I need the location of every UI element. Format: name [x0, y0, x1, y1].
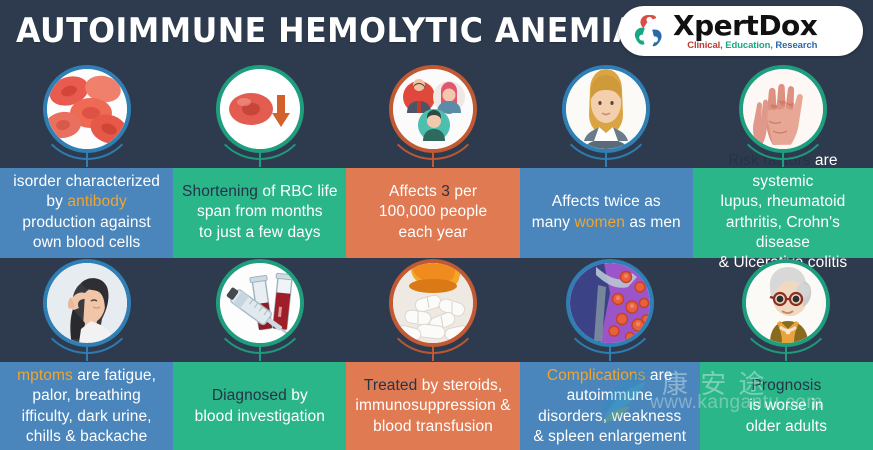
fact-text-diagnosis: Diagnosed byblood investigation: [195, 386, 325, 427]
text-segment: Treated: [364, 377, 418, 394]
text-segment: Shortening: [182, 183, 258, 200]
text-segment: span from months: [197, 203, 323, 220]
fact-panel-complications: Complications areautoimmunedisorders, we…: [520, 362, 700, 450]
medallion-symptoms: [43, 259, 131, 347]
text-segment: production against: [22, 214, 150, 231]
medallion-complications: [566, 259, 654, 347]
fact-text-treatment: Treated by steroids,immunosuppression &b…: [355, 376, 510, 437]
text-segment: are: [646, 367, 673, 384]
elderly-woman-icon: [746, 263, 826, 343]
medallion-sex-ratio: [562, 65, 650, 153]
rbc-down-arrow-icon: [220, 69, 300, 149]
fact-text-symptoms: mptoms are fatigue,palor, breathingiffic…: [17, 366, 156, 448]
woman-avatar-icon: [566, 69, 646, 149]
text-segment: 100,000 people: [379, 203, 487, 220]
fact-panel-symptoms: mptoms are fatigue,palor, breathingiffic…: [0, 362, 173, 450]
text-segment: blood investigation: [195, 408, 325, 425]
text-segment: immunosuppression &: [355, 397, 510, 414]
fact-cell-treatment: Treated by steroids,immunosuppression &b…: [346, 256, 519, 450]
medallion-ring: [43, 65, 131, 153]
text-segment: Affects: [389, 183, 441, 200]
medallion-stem: [86, 153, 88, 167]
text-segment: disorders, weakness: [538, 408, 681, 425]
text-segment: women: [574, 214, 624, 231]
logo-name: XpertDox: [673, 12, 817, 40]
medallion-stem: [259, 347, 261, 361]
text-segment: blood transfusion: [373, 418, 493, 435]
arthritic-hands-icon: [743, 69, 823, 149]
fact-cell-sex-ratio: Affects twice asmany women as men: [520, 62, 693, 256]
syringe-blood-tubes-icon: [220, 263, 300, 343]
fact-cell-incidence: Affects 3 per100,000 peopleeach year: [346, 62, 519, 256]
logo-wordmark: XpertDox Clinical, Education, Research: [673, 12, 817, 51]
text-segment: arthritis, Crohn's disease: [726, 214, 840, 251]
medallion-stem: [605, 153, 607, 167]
text-segment: & spleen enlargement: [533, 428, 686, 445]
text-segment: own blood cells: [33, 234, 140, 251]
page-title: AUTOIMMUNE HEMOLYTIC ANEMIA: [16, 14, 638, 48]
fact-row-1: isorder characterizedby antibodyproducti…: [0, 62, 873, 256]
fact-panel-prognosis: Prognosisis worse inolder adults: [700, 362, 873, 450]
fact-text-complications: Complications areautoimmunedisorders, we…: [533, 366, 686, 448]
medallion-ring: [389, 259, 477, 347]
medallion-ring: [742, 259, 830, 347]
fact-cell-diagnosis: Diagnosed byblood investigation: [173, 256, 346, 450]
fact-row-2: mptoms are fatigue,palor, breathingiffic…: [0, 256, 873, 450]
medallion-ring: [566, 259, 654, 347]
text-segment: isorder characterized: [13, 173, 160, 190]
medallion-stem: [785, 347, 787, 361]
fact-cell-risk-factors: Risk factors are systemiclupus, rheumato…: [693, 62, 873, 256]
fact-cell-symptoms: mptoms are fatigue,palor, breathingiffic…: [0, 256, 173, 450]
medallion-rbc-lifespan: [216, 65, 304, 153]
fact-panel-risk-factors: Risk factors are systemiclupus, rheumato…: [693, 168, 873, 258]
medallion-risk-factors: [739, 65, 827, 153]
fact-panel-diagnosis: Diagnosed byblood investigation: [173, 362, 346, 450]
tagline-clinical: Clinical,: [687, 40, 723, 51]
medallion-definition: [43, 65, 131, 153]
text-segment: antibody: [67, 193, 126, 210]
text-segment: as men: [625, 214, 681, 231]
text-segment: each year: [399, 224, 468, 241]
medallion-stem: [609, 347, 611, 361]
medallion-stem: [86, 347, 88, 361]
fact-cell-rbc-lifespan: Shortening of RBC lifespan from monthsto…: [173, 62, 346, 256]
infographic-canvas: AUTOIMMUNE HEMOLYTIC ANEMIA XpertDox Cli…: [0, 0, 873, 450]
medallion-ring: [562, 65, 650, 153]
text-segment: lupus, rheumatoid: [720, 193, 845, 210]
fact-panel-rbc-lifespan: Shortening of RBC lifespan from monthsto…: [173, 168, 346, 258]
text-segment: is worse in: [749, 397, 823, 414]
fact-panel-sex-ratio: Affects twice asmany women as men: [520, 168, 693, 258]
fact-panel-definition: isorder characterizedby antibodyproducti…: [0, 168, 173, 258]
text-segment: chills & backache: [26, 428, 147, 445]
medallion-stem: [259, 153, 261, 167]
text-segment: Affects twice as: [552, 193, 661, 210]
text-segment: many: [532, 214, 575, 231]
logo-tagline: Clinical, Education, Research: [673, 41, 817, 51]
text-segment: palor, breathing: [32, 387, 140, 404]
header-bar: AUTOIMMUNE HEMOLYTIC ANEMIA XpertDox Cli…: [0, 0, 873, 62]
medallion-stem: [432, 347, 434, 361]
text-segment: Diagnosed: [212, 387, 287, 404]
fatigued-woman-icon: [47, 263, 127, 343]
fact-panel-incidence: Affects 3 per100,000 peopleeach year: [346, 168, 519, 258]
text-segment: autoimmune: [567, 387, 653, 404]
medallion-ring: [739, 65, 827, 153]
red-blood-cells-icon: [47, 69, 127, 149]
fact-text-incidence: Affects 3 per100,000 peopleeach year: [379, 182, 487, 243]
text-segment: per: [450, 183, 477, 200]
tagline-research: Research: [773, 40, 818, 51]
text-segment: are fatigue,: [73, 367, 156, 384]
medallion-prognosis: [742, 259, 830, 347]
medallion-incidence: [389, 65, 477, 153]
fact-panel-treatment: Treated by steroids,immunosuppression &b…: [346, 362, 519, 450]
text-segment: by: [287, 387, 308, 404]
text-segment: of RBC life: [258, 183, 338, 200]
medallion-ring: [216, 259, 304, 347]
medallion-ring: [389, 65, 477, 153]
three-people-group-icon: [393, 69, 473, 149]
text-segment: Complications: [547, 367, 646, 384]
tri-color-swirl-people-icon: [627, 9, 671, 53]
medallion-stem: [432, 153, 434, 167]
text-segment: by: [46, 193, 67, 210]
text-segment: by steroids,: [417, 377, 502, 394]
fact-cell-definition: isorder characterizedby antibodyproducti…: [0, 62, 173, 256]
medallion-treatment: [389, 259, 477, 347]
fact-text-sex-ratio: Affects twice asmany women as men: [532, 192, 681, 233]
fact-cell-complications: Complications areautoimmunedisorders, we…: [520, 256, 700, 450]
microscope-slide-cells-icon: [570, 263, 650, 343]
medallion-diagnosis: [216, 259, 304, 347]
text-segment: older adults: [746, 418, 827, 435]
text-segment: mptoms: [17, 367, 73, 384]
brand-logo[interactable]: XpertDox Clinical, Education, Research: [619, 6, 863, 56]
text-segment: Prognosis: [751, 377, 821, 394]
pill-bottle-icon: [393, 263, 473, 343]
medallion-ring: [216, 65, 304, 153]
medallion-stem: [782, 153, 784, 167]
fact-text-prognosis: Prognosisis worse inolder adults: [746, 376, 827, 437]
text-segment: ifficulty, dark urine,: [22, 408, 152, 425]
fact-text-definition: isorder characterizedby antibodyproducti…: [13, 172, 160, 254]
text-segment: to just a few days: [199, 224, 321, 241]
tagline-education: Education,: [723, 40, 773, 51]
fact-cell-prognosis: Prognosisis worse inolder adults: [700, 256, 873, 450]
medallion-ring: [43, 259, 131, 347]
text-segment: 3: [441, 183, 450, 200]
fact-text-rbc-lifespan: Shortening of RBC lifespan from monthsto…: [182, 182, 338, 243]
